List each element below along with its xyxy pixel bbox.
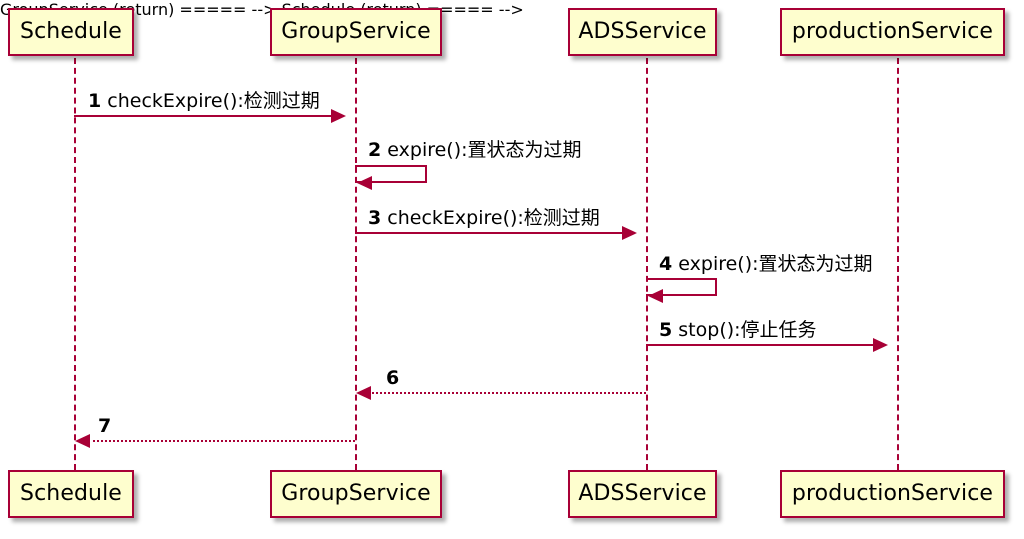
message-seq-4: 4 [659,253,672,275]
message-arrow-3[interactable] [355,232,632,234]
message-label-3: 3 checkExpire():检测过期 [368,209,600,228]
message-arrow-1[interactable] [74,115,341,117]
message-arrow-7[interactable] [88,440,355,442]
arrowhead-right-icon [622,226,637,240]
message-seq-5: 5 [659,319,672,341]
lifeline-groupservice [355,58,357,470]
participant-groupservice-bottom[interactable]: GroupService [270,470,442,518]
participant-schedule-bottom[interactable]: Schedule [8,470,134,518]
participant-productionservice-bottom[interactable]: productionService [780,470,1005,518]
participant-label: ADSService [578,483,706,505]
lifeline-schedule [74,58,76,470]
message-text-2: expire():置状态为过期 [387,139,581,161]
participant-label: ADSService [578,21,706,43]
message-seq-3: 3 [368,207,381,229]
arrowhead-left-icon [75,434,90,448]
participant-label: productionService [792,21,993,43]
arrowhead-right-icon [873,338,888,352]
sequence-diagram-canvas: Schedule GroupService ADSService product… [0,0,1024,539]
message-arrow-5[interactable] [646,344,883,346]
message-label-4: 4 expire():置状态为过期 [659,255,873,274]
arrowhead-left-icon [648,289,663,303]
participant-label: Schedule [20,483,122,505]
message-seq-2: 2 [368,139,381,161]
participant-productionservice-top[interactable]: productionService [780,8,1005,56]
participant-label: productionService [792,483,993,505]
message-text-3: checkExpire():检测过期 [387,207,600,229]
message-seq-6: 6 [386,367,399,389]
message-text-4: expire():置状态为过期 [678,253,872,275]
message-seq-7: 7 [98,415,111,437]
message-label-6: 6 [386,369,399,388]
arrowhead-right-icon [331,109,346,123]
participant-groupservice-top[interactable]: GroupService [270,8,442,56]
participant-schedule-top[interactable]: Schedule [8,8,134,56]
arrowhead-left-icon [357,176,372,190]
participant-adsservice-bottom[interactable]: ADSService [568,470,717,518]
arrowhead-left-icon [356,386,371,400]
participant-adsservice-top[interactable]: ADSService [568,8,717,56]
lifeline-adsservice [646,58,648,470]
message-seq-1: 1 [88,90,101,112]
lifeline-productionservice [897,58,899,470]
message-label-2: 2 expire():置状态为过期 [368,141,582,160]
message-label-5: 5 stop():停止任务 [659,321,817,340]
message-text-1: checkExpire():检测过期 [107,90,320,112]
participant-label: Schedule [20,21,122,43]
message-label-7: 7 [98,417,111,436]
participant-label: GroupService [281,483,431,505]
message-arrow-6[interactable] [369,392,646,394]
message-label-1: 1 checkExpire():检测过期 [88,92,320,111]
participant-label: GroupService [281,21,431,43]
message-text-5: stop():停止任务 [678,319,816,341]
